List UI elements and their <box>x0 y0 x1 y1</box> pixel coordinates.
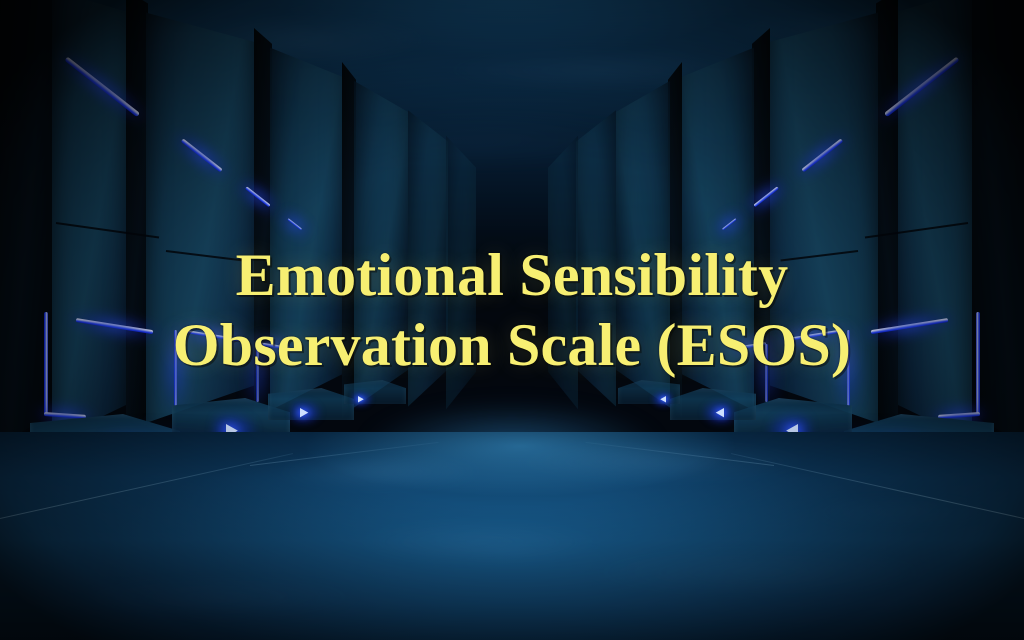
neon-strip-vertical-2-r <box>847 330 850 406</box>
wall-column-dark-3 <box>342 62 356 418</box>
base-light-arrow-3-r <box>716 408 724 417</box>
neon-strip-vertical-1-r <box>976 312 980 416</box>
neon-strip-vertical-1 <box>44 312 48 416</box>
wall-column-2-r <box>766 4 878 436</box>
wall-column-5-r <box>576 104 616 416</box>
neon-strip-upper-4-r <box>722 218 737 230</box>
wall-column-dark-3-r <box>668 62 682 418</box>
wall-column-dark-1 <box>126 0 148 440</box>
floor-texture <box>0 432 1024 640</box>
wall-column-4 <box>354 74 408 418</box>
title-card-scene: Emotional Sensibility Observation Scale … <box>0 0 1024 640</box>
base-light-arrow-4 <box>358 396 364 402</box>
wall-column-6-r <box>548 130 578 418</box>
corridor-scene <box>0 0 1024 640</box>
neon-strip-vertical-2 <box>174 330 177 406</box>
neon-strip-lower-2 <box>186 330 240 341</box>
wall-column-dark-1-r <box>876 0 898 440</box>
wall-column-4-r <box>616 74 670 418</box>
neon-strip-foot-1 <box>44 412 86 419</box>
wall-column-2 <box>146 4 258 436</box>
neon-strip-upper-4 <box>287 218 302 230</box>
neon-strip-lower-1 <box>76 318 154 334</box>
neon-strip-vertical-3 <box>256 344 259 402</box>
neon-strip-lower-1-r <box>871 318 949 334</box>
base-light-arrow-4-r <box>660 396 666 402</box>
neon-strip-foot-1-r <box>938 412 980 419</box>
neon-strip-lower-2-r <box>784 330 838 341</box>
neon-strip-vertical-3-r <box>765 344 768 402</box>
wall-column-5 <box>408 104 448 416</box>
base-light-arrow-3 <box>300 408 308 417</box>
wall-column-6 <box>446 130 476 418</box>
